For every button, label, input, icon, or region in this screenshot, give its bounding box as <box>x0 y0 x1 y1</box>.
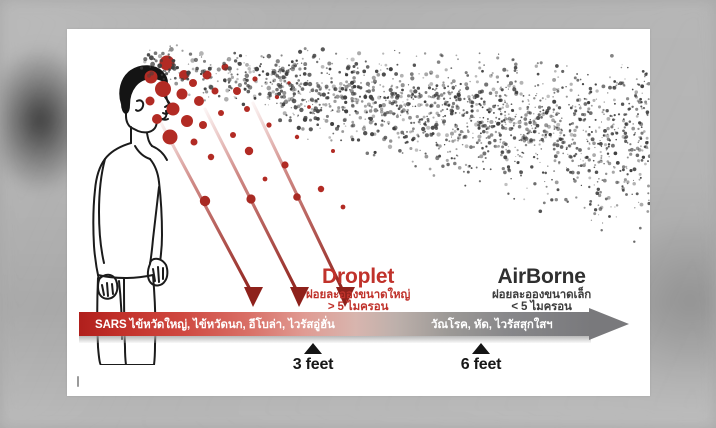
marker-6-feet: 6 feet <box>441 343 521 374</box>
bar-drop-shadow <box>79 336 591 343</box>
droplet-subtitle-thai: ฝอยละอองขนาดใหญ่ <box>306 289 410 302</box>
droplet-label-group: Droplet ฝอยละอองขนาดใหญ่ > 5 ไมครอน <box>306 265 410 314</box>
marker-3-feet-label: 3 feet <box>273 356 353 374</box>
airborne-label-group: AirBorne ฝอยละอองขนาดเล็ก < 5 ไมครอน <box>492 265 591 314</box>
transmission-distance-bar: SARS ไข้หวัดใหญ่, ไข้หวัดนก, อีโบล่า, ไว… <box>79 312 639 342</box>
marker-3-feet: 3 feet <box>273 343 353 374</box>
droplet-disease-list: SARS ไข้หวัดใหญ่, ไข้หวัดนก, อีโบล่า, ไว… <box>95 316 335 334</box>
airborne-title: AirBorne <box>492 265 591 289</box>
screenshot-root: Droplet ฝอยละอองขนาดใหญ่ > 5 ไมครอน AirB… <box>0 0 716 428</box>
airborne-subtitle-thai: ฝอยละอองขนาดเล็ก <box>492 289 591 302</box>
triangle-pointer-icon <box>472 343 490 354</box>
panel-corner-mark <box>77 376 79 387</box>
triangle-pointer-icon <box>304 343 322 354</box>
bar-arrowhead <box>589 308 629 340</box>
airborne-disease-list: วัณโรค, หัด, ไวรัสสุกใสฯ <box>431 316 553 334</box>
droplet-title: Droplet <box>306 265 410 289</box>
infographic-panel: Droplet ฝอยละอองขนาดใหญ่ > 5 ไมครอน AirB… <box>67 29 650 396</box>
droplet-spray-particle-field <box>137 39 650 284</box>
marker-6-feet-label: 6 feet <box>441 356 521 374</box>
